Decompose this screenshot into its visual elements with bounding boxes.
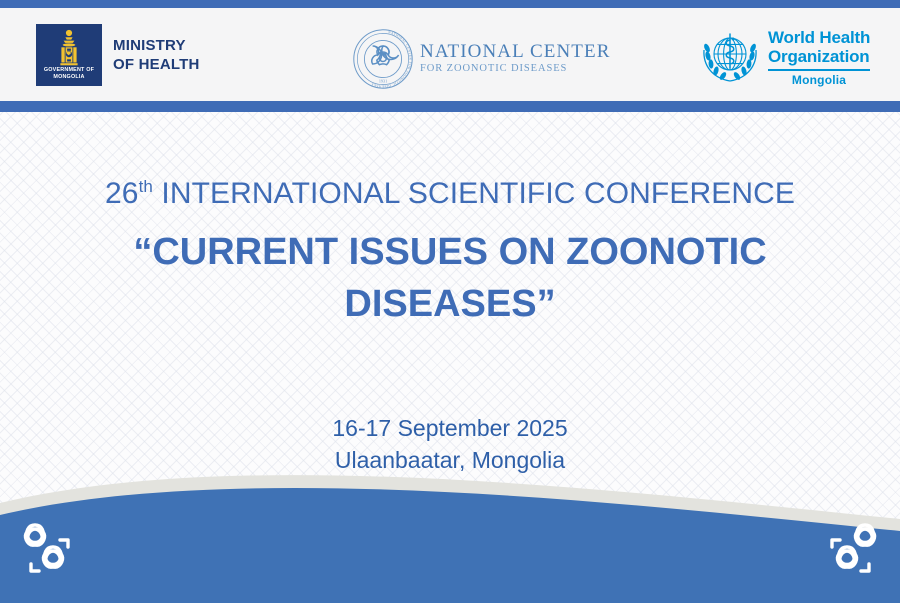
who-name: World Health Organization Mongolia [768,28,870,87]
ministry-name: MINISTRY OF HEALTH [113,36,200,74]
national-center-name: NATIONAL CENTER FOR ZOONOTIC DISEASES [420,42,610,76]
conference-number: 26 [105,177,139,210]
who-logo: World Health Organization Mongolia [700,28,870,87]
logo-header-band: GOVERNMENT OF MONGOLIA MINISTRY OF HEALT… [0,8,900,101]
biohazard-seal-icon: NATIONAL CENTER FOR ZOONOTIC DISEASES 19… [352,28,414,90]
who-divider [768,69,870,71]
svg-text:1931: 1931 [379,79,387,84]
who-name-line1: World Health [768,28,870,47]
national-center-name-line2: FOR ZOONOTIC DISEASES [420,62,610,76]
mongolian-endless-knot-icon-left [18,519,80,581]
title-block: 26th INTERNATIONAL SCIENTIFIC CONFERENCE… [0,172,900,330]
crest-caption: GOVERNMENT OF MONGOLIA [36,67,102,81]
conference-ordinal-suffix: th [139,177,153,196]
who-name-line2: Organization [768,47,870,66]
mongolia-government-crest: GOVERNMENT OF MONGOLIA [36,24,102,86]
who-country-label: Mongolia [768,73,870,87]
conference-title-text: INTERNATIONAL SCIENTIFIC CONFERENCE [161,177,795,210]
conference-edition-title: 26th INTERNATIONAL SCIENTIFIC CONFERENCE [0,172,900,216]
national-center-name-line1: NATIONAL CENTER [420,42,610,62]
header-accent-bar [0,101,900,112]
event-dates: 16-17 September 2025 [0,412,900,444]
conference-theme: “CURRENT ISSUES ON ZOONOTIC DISEASES” [0,226,900,330]
top-accent-bar [0,0,900,8]
mongolian-endless-knot-icon-right [820,519,882,581]
conference-title-slide: GOVERNMENT OF MONGOLIA MINISTRY OF HEALT… [0,0,900,603]
ministry-name-line2: OF HEALTH [113,55,200,74]
ministry-of-health-logo: GOVERNMENT OF MONGOLIA MINISTRY OF HEALT… [36,24,200,86]
footer-wave-decoration [0,463,900,603]
ministry-name-line1: MINISTRY [113,36,200,55]
who-emblem-icon [700,28,760,86]
national-center-zoonotic-diseases-logo: NATIONAL CENTER FOR ZOONOTIC DISEASES 19… [352,28,610,90]
